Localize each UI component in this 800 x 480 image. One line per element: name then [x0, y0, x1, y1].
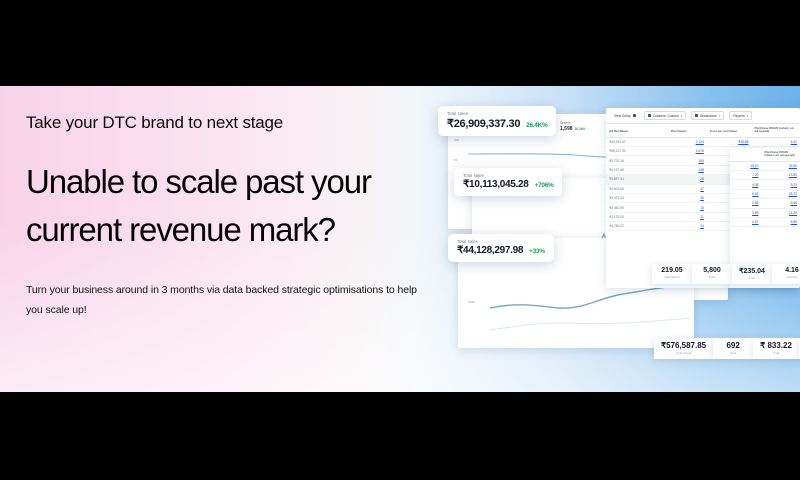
cell-purchases[interactable]: 148	[668, 165, 707, 174]
cell-name: ₹3,137.60	[606, 165, 668, 174]
summary-cell: 5,800Total	[692, 264, 732, 284]
summary-value: ₹235.04	[739, 267, 765, 275]
summary-value: 219.05	[659, 267, 685, 274]
hero-eyebrow: Take your DTC brand to next stage	[26, 113, 283, 133]
cell-purchases[interactable]: 28	[668, 175, 707, 184]
summary-cell: ₹235.04Total	[732, 264, 772, 284]
summary-label: Total Spend	[659, 275, 685, 279]
letterbox-bottom	[0, 392, 800, 480]
hero-subcopy: Turn your business around in 3 months vi…	[26, 280, 426, 320]
summary-cell: 692Total	[713, 338, 753, 359]
cell-name: ₹3,897.91	[606, 175, 668, 184]
table-row[interactable]: 7.2013.80	[730, 171, 800, 180]
summary-label: Total Spend	[661, 351, 706, 355]
chevron-down-icon: ▾	[747, 114, 749, 118]
cell-purchases[interactable]: 1,675	[668, 147, 707, 156]
summary-strip-top: 219.05Total Spend5,800Total₹235.04Total4…	[652, 264, 800, 284]
cell-purchases[interactable]: 21	[668, 212, 707, 221]
summary-value: ₹576,587.85	[661, 341, 706, 350]
summary-strip-bottom: ₹576,587.85Total Spend692Total₹ 833.22To…	[654, 338, 800, 359]
cell-roas-left[interactable]: 7.20	[730, 171, 762, 180]
cell-name: ₹3,603.06	[606, 184, 668, 193]
summary-value: 5,800	[699, 267, 725, 274]
cell-roas-right[interactable]: 5.89	[762, 217, 800, 226]
cell-cost-per-purchase[interactable]: ₹28.88	[707, 137, 752, 146]
table-row[interactable]: 6.0325.72	[730, 189, 800, 198]
cell-purchases[interactable]: 154	[668, 156, 707, 165]
summary-label: Total	[699, 275, 725, 279]
dashboard-collage: Total sales ₹26,909,337.3026.4K% Orders …	[430, 86, 800, 392]
breakdown-button[interactable]: Breakdown ▾	[691, 111, 724, 120]
breakdown-icon	[695, 114, 698, 117]
summary-cell: ₹ 833.22Total	[753, 338, 799, 359]
cell-roas-right[interactable]: 9.21	[762, 180, 800, 189]
roas-table: Purchase ROAS (return on ad spend) 10.10…	[730, 148, 800, 227]
letterbox-top	[0, 0, 800, 86]
summary-cell: ₹576,587.85Total Spend	[654, 338, 713, 359]
cell-roas-left[interactable]: 0.57	[730, 217, 762, 226]
cell-name: ₹3,460.59	[606, 203, 668, 212]
grid-icon	[633, 114, 636, 117]
chevron-down-icon: ▾	[681, 114, 683, 118]
cell-roas-right[interactable]: 11.20	[762, 208, 800, 217]
cell-name: ₹4,760.02	[606, 222, 668, 231]
cell-name: ₹3,175.00	[606, 212, 668, 221]
cell-roas-left[interactable]: 4.38	[730, 180, 762, 189]
table-row[interactable]: 2.568.58	[730, 199, 800, 208]
table-toolbar: View Setup Columns: Custom ▾ Breakdown ▾	[606, 108, 800, 124]
cell-roas-right[interactable]: 22.50	[762, 161, 800, 170]
hero-page: Take your DTC brand to next stage Unable…	[0, 0, 800, 480]
cell-roas[interactable]: 4.01	[751, 137, 800, 146]
cell-purchases[interactable]: 14	[668, 222, 707, 231]
table-header-row: Ad Set Name Purchases Cost per purchase …	[606, 124, 800, 137]
cell-roas-right[interactable]: 8.58	[762, 199, 800, 208]
summary-label: Total	[760, 351, 792, 355]
cell-purchases[interactable]: 17	[668, 184, 707, 193]
columns-icon	[648, 114, 651, 117]
cell-purchases[interactable]: 26	[668, 193, 707, 202]
total-sales-pill-2: Total sales ₹10,113,045.28 +706%	[454, 168, 562, 196]
table-row[interactable]: 0.575.89	[730, 217, 800, 226]
table-row[interactable]: 4.389.21	[730, 180, 800, 189]
cell-roas-left[interactable]: 6.03	[730, 189, 762, 198]
cell-roas-left[interactable]: 2.56	[730, 199, 762, 208]
cell-roas-right[interactable]: 13.80	[762, 171, 800, 180]
hero-section: Take your DTC brand to next stage Unable…	[0, 86, 800, 392]
cell-name: ₹43,931.47	[606, 137, 668, 146]
page-title: Unable to scale past your current revenu…	[26, 158, 456, 254]
summary-cell: 219.05Total Spend	[652, 264, 692, 284]
cell-roas-right[interactable]: 25.72	[762, 189, 800, 198]
view-setup-button[interactable]: View Setup	[611, 112, 639, 119]
cell-roas-left[interactable]: 3.89	[730, 208, 762, 217]
cell-roas-left[interactable]: 10.10	[730, 161, 762, 170]
cell-name: ₹3,473.04	[606, 193, 668, 202]
chevron-down-icon: ▾	[719, 114, 721, 118]
cell-name: ₹3,776.16	[606, 156, 668, 165]
summary-label: Average	[779, 275, 800, 279]
cell-purchases[interactable]: 2,124	[668, 137, 707, 146]
table-row[interactable]: 10.1022.50	[730, 161, 800, 170]
summary-value: 692	[720, 341, 746, 350]
cell-name: ₹58,137.92	[606, 147, 668, 156]
summary-value: ₹ 833.22	[760, 341, 792, 350]
summary-cell: 4.16Average	[772, 264, 800, 284]
total-sales-pill-3: Total sales ₹44,128,297.98 +33%	[448, 234, 554, 262]
reports-button[interactable]: Reports ▾	[729, 111, 752, 120]
total-sales-pill-1: Total sales ₹26,909,337.30 26.4K%	[438, 106, 556, 136]
summary-value: 4.16	[779, 267, 800, 274]
summary-label: Total	[720, 351, 746, 355]
table-row[interactable]: 3.8911.20	[730, 208, 800, 217]
columns-button[interactable]: Columns: Custom ▾	[644, 111, 687, 120]
roas-table-body: 10.1022.507.2013.804.389.216.0325.722.56…	[730, 161, 800, 227]
table-row[interactable]: ₹43,931.472,124₹28.884.01	[606, 137, 800, 146]
summary-label: Total	[739, 276, 765, 280]
cell-purchases[interactable]: 13	[668, 203, 707, 212]
